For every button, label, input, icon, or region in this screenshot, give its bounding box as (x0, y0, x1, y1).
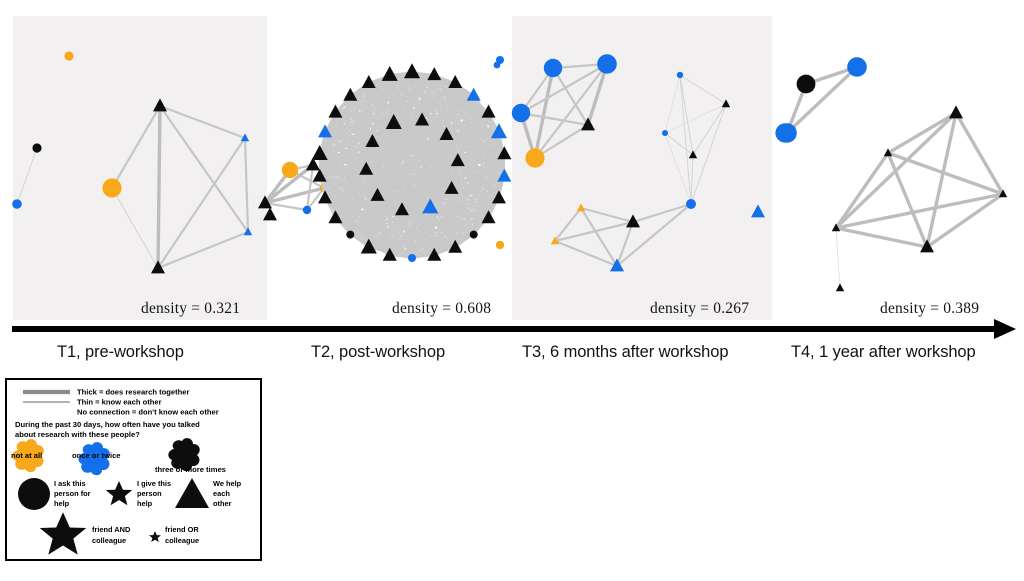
time-label-t1: T1, pre-workshop (57, 343, 184, 362)
node-blue-circle (408, 254, 416, 262)
legend-question-line2: about research with these people? (15, 430, 140, 439)
node-blue-circle (303, 206, 311, 214)
legend-freq-label-three: three or more times (155, 465, 226, 474)
network-t4 (777, 57, 1007, 291)
legend-role-both-line1: We help (213, 479, 242, 488)
node-orange-circle (64, 51, 73, 60)
legend-thick-label: Thick = does research together (77, 388, 190, 397)
legend-rel-and-line1: friend AND (92, 525, 131, 534)
legend-content: Thick = does research together Thin = kn… (7, 380, 260, 559)
node-orange-circle (496, 241, 504, 249)
network-t2 (258, 56, 511, 262)
legend-freq-label-none: not at all (11, 451, 42, 460)
legend-rel-or-line1: friend OR (165, 525, 199, 534)
time-label-t4: T4, 1 year after workshop (791, 343, 976, 362)
network-panels (0, 0, 1024, 330)
node-blue-circle-large (544, 59, 562, 77)
node-black-circle-large (797, 75, 816, 94)
legend-freq-label-once: once or twice (72, 451, 121, 460)
node-black-circle (32, 143, 41, 152)
legend-rel-or-line2: colleague (165, 536, 199, 545)
legend-frequency: not at all once or twice three or more t… (11, 438, 226, 475)
legend-question: During the past 30 days, how often have … (15, 420, 200, 439)
legend-role-ask-line3: help (54, 499, 70, 508)
star-icon-friend-or-colleague (149, 531, 161, 542)
legend-none-label: No connection = don't know each other (77, 408, 219, 417)
triangle-icon-help-each-other (175, 478, 209, 508)
legend-role-give-line2: person (137, 489, 162, 498)
star-icon-friend-and-colleague (40, 512, 87, 554)
legend-role-give-line3: help (137, 499, 153, 508)
legend-roles: I ask this person for help I give this p… (18, 478, 242, 510)
legend-role-both-line3: other (213, 499, 232, 508)
legend-edge-key: Thick = does research together Thin = kn… (23, 388, 219, 417)
circle-icon-ask-for-help (18, 478, 50, 510)
legend-question-line1: During the past 30 days, how often have … (15, 420, 200, 429)
node-blue-circle-large (512, 104, 530, 122)
figure-canvas: density = 0.321 density = 0.608 density … (0, 0, 1024, 581)
legend-box: Thick = does research together Thin = kn… (5, 378, 262, 561)
node-black-circle (346, 231, 354, 239)
node-orange-circle-large (102, 178, 121, 197)
legend-role-ask-line2: person for (54, 489, 91, 498)
node-orange-circle-large (282, 162, 298, 178)
node-blue-circle (686, 199, 696, 209)
node-black-triangle-small (836, 283, 844, 291)
node-blue-circle-small (677, 72, 683, 78)
time-label-t3: T3, 6 months after workshop (522, 343, 728, 362)
node-blue-circle (12, 199, 22, 209)
legend-role-ask-line1: I ask this (54, 479, 86, 488)
node-blue-circle (494, 62, 501, 69)
legend-role-give-line1: I give this (137, 479, 171, 488)
node-orange-circle-large (525, 148, 544, 167)
node-black-triangle (404, 63, 420, 78)
node-blue-circle-large (597, 54, 617, 74)
timeline-axis (0, 316, 1024, 342)
t4-edges (787, 67, 1003, 288)
star-icon-give-help (106, 481, 133, 505)
legend-role-both-line2: each (213, 489, 230, 498)
legend-rel-and-line2: colleague (92, 536, 126, 545)
legend-thin-label: Thin = know each other (77, 398, 162, 407)
axis-arrowhead (994, 319, 1016, 339)
node-blue-circle-small (662, 130, 668, 136)
node-blue-circle-large (777, 123, 797, 143)
panel-shade-t1 (13, 16, 267, 320)
node-blue-circle-large (847, 57, 867, 77)
node-black-circle (470, 231, 478, 239)
legend-relations: friend AND colleague friend OR colleague (40, 512, 200, 554)
node-black-triangle (949, 105, 963, 118)
time-label-t2: T2, post-workshop (311, 343, 445, 362)
